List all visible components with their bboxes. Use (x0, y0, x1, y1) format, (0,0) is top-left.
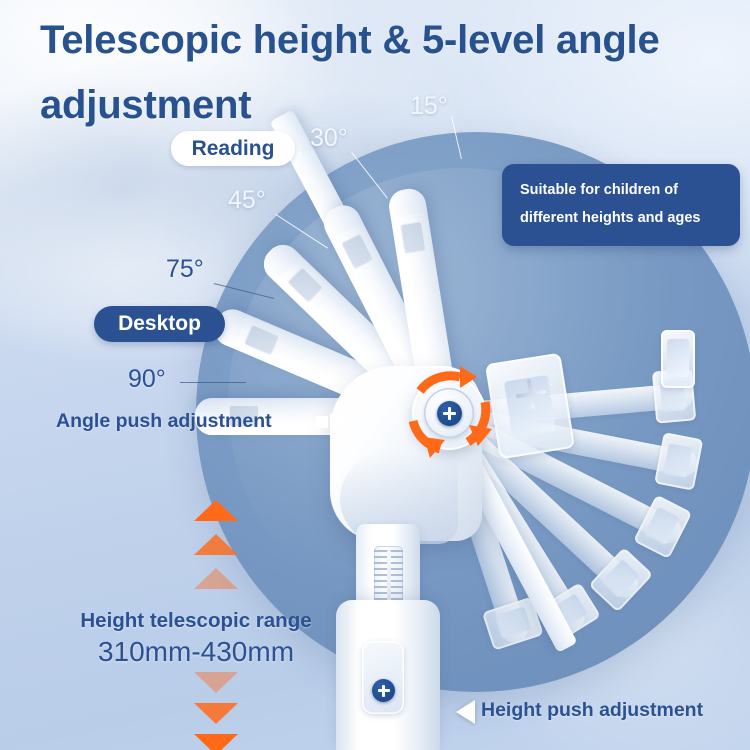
chevron-up-icon (194, 500, 238, 521)
page-title: Telescopic height & 5-level angle adjust… (40, 8, 740, 138)
callout-line-1: Suitable for children of (520, 176, 726, 204)
angle-label-45: 45° (228, 186, 266, 215)
callout-badge: Suitable for children of different heigh… (502, 164, 740, 246)
arrow-left-icon (456, 700, 475, 724)
ghost-clip (654, 432, 703, 491)
rail-clip (661, 330, 695, 388)
angle-label-15: 15° (410, 92, 448, 121)
chevron-up-icon (194, 568, 238, 589)
ghost-clip (589, 547, 654, 612)
note-height-push: Height push adjustment (481, 699, 703, 722)
pill-desktop: Desktop (94, 306, 225, 342)
height-release-button[interactable] (362, 641, 404, 714)
angle-label-75: 75° (166, 255, 204, 284)
height-range-label: Height telescopic range (62, 609, 330, 633)
leader-line-90 (180, 382, 246, 383)
infographic-canvas: Telescopic height & 5-level angle adjust… (0, 0, 750, 750)
callout-line-2: different heights and ages (520, 204, 726, 232)
plus-icon (372, 679, 395, 702)
chevron-down-icon (194, 703, 238, 724)
note-angle-push: Angle push adjustment (56, 410, 272, 433)
angle-label-30: 30° (310, 124, 348, 153)
angle-label-90: 90° (128, 365, 166, 394)
pill-reading: Reading (171, 131, 295, 166)
chevron-down-icon (194, 672, 238, 693)
chevron-up-icon (194, 534, 238, 555)
rotate-arrows-icon (394, 358, 504, 468)
arrow-right-icon (316, 412, 350, 432)
height-range-value: 310mm-430mm (62, 636, 330, 668)
chevron-down-icon (194, 734, 238, 750)
ghost-clip (633, 495, 692, 559)
